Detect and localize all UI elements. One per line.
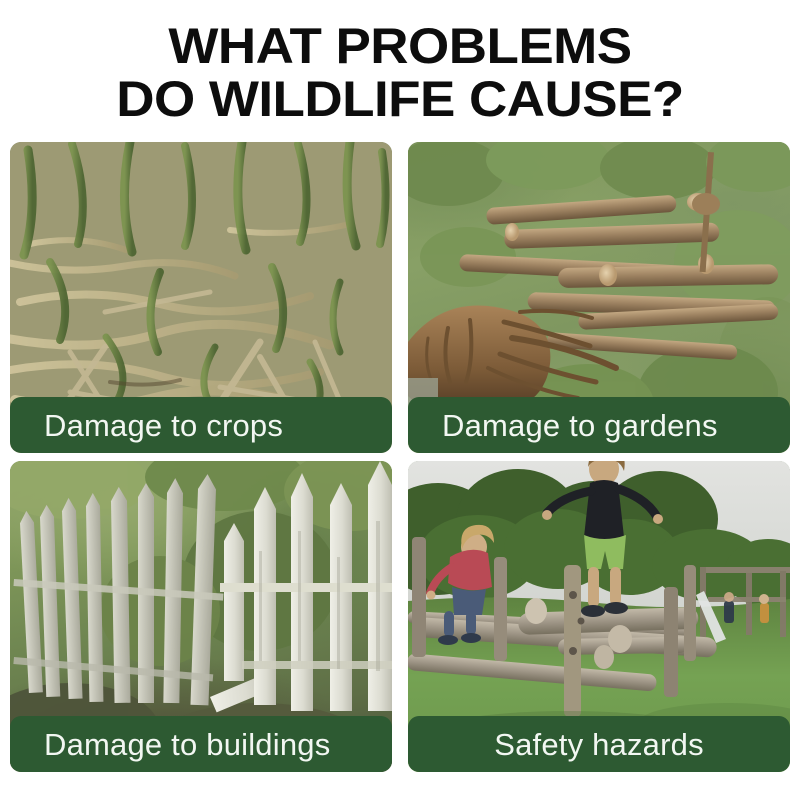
page-title: WHAT PROBLEMS DO WILDLIFE CAUSE? [0, 20, 800, 126]
title-line-1: WHAT PROBLEMS [0, 20, 800, 72]
caption-bar-damage-to-crops: Damage to crops [10, 397, 392, 453]
caption-text-damage-to-crops: Damage to crops [44, 410, 283, 441]
caption-bar-damage-to-buildings: Damage to buildings [10, 716, 392, 772]
caption-bar-damage-to-gardens: Damage to gardens [408, 397, 790, 453]
caption-text-damage-to-buildings: Damage to buildings [44, 729, 330, 760]
caption-text-safety-hazards: Safety hazards [494, 729, 704, 760]
card-damage-to-buildings[interactable]: Damage to buildings [10, 461, 392, 772]
caption-text-damage-to-gardens: Damage to gardens [442, 410, 718, 441]
caption-bar-safety-hazards: Safety hazards [408, 716, 790, 772]
infographic-poster: WHAT PROBLEMS DO WILDLIFE CAUSE? [0, 0, 800, 800]
card-damage-to-crops[interactable]: Damage to crops [10, 142, 392, 453]
problem-card-grid: Damage to crops [10, 142, 790, 772]
title-line-2: DO WILDLIFE CAUSE? [0, 72, 800, 126]
card-safety-hazards[interactable]: Safety hazards [408, 461, 790, 772]
card-damage-to-gardens[interactable]: Damage to gardens [408, 142, 790, 453]
